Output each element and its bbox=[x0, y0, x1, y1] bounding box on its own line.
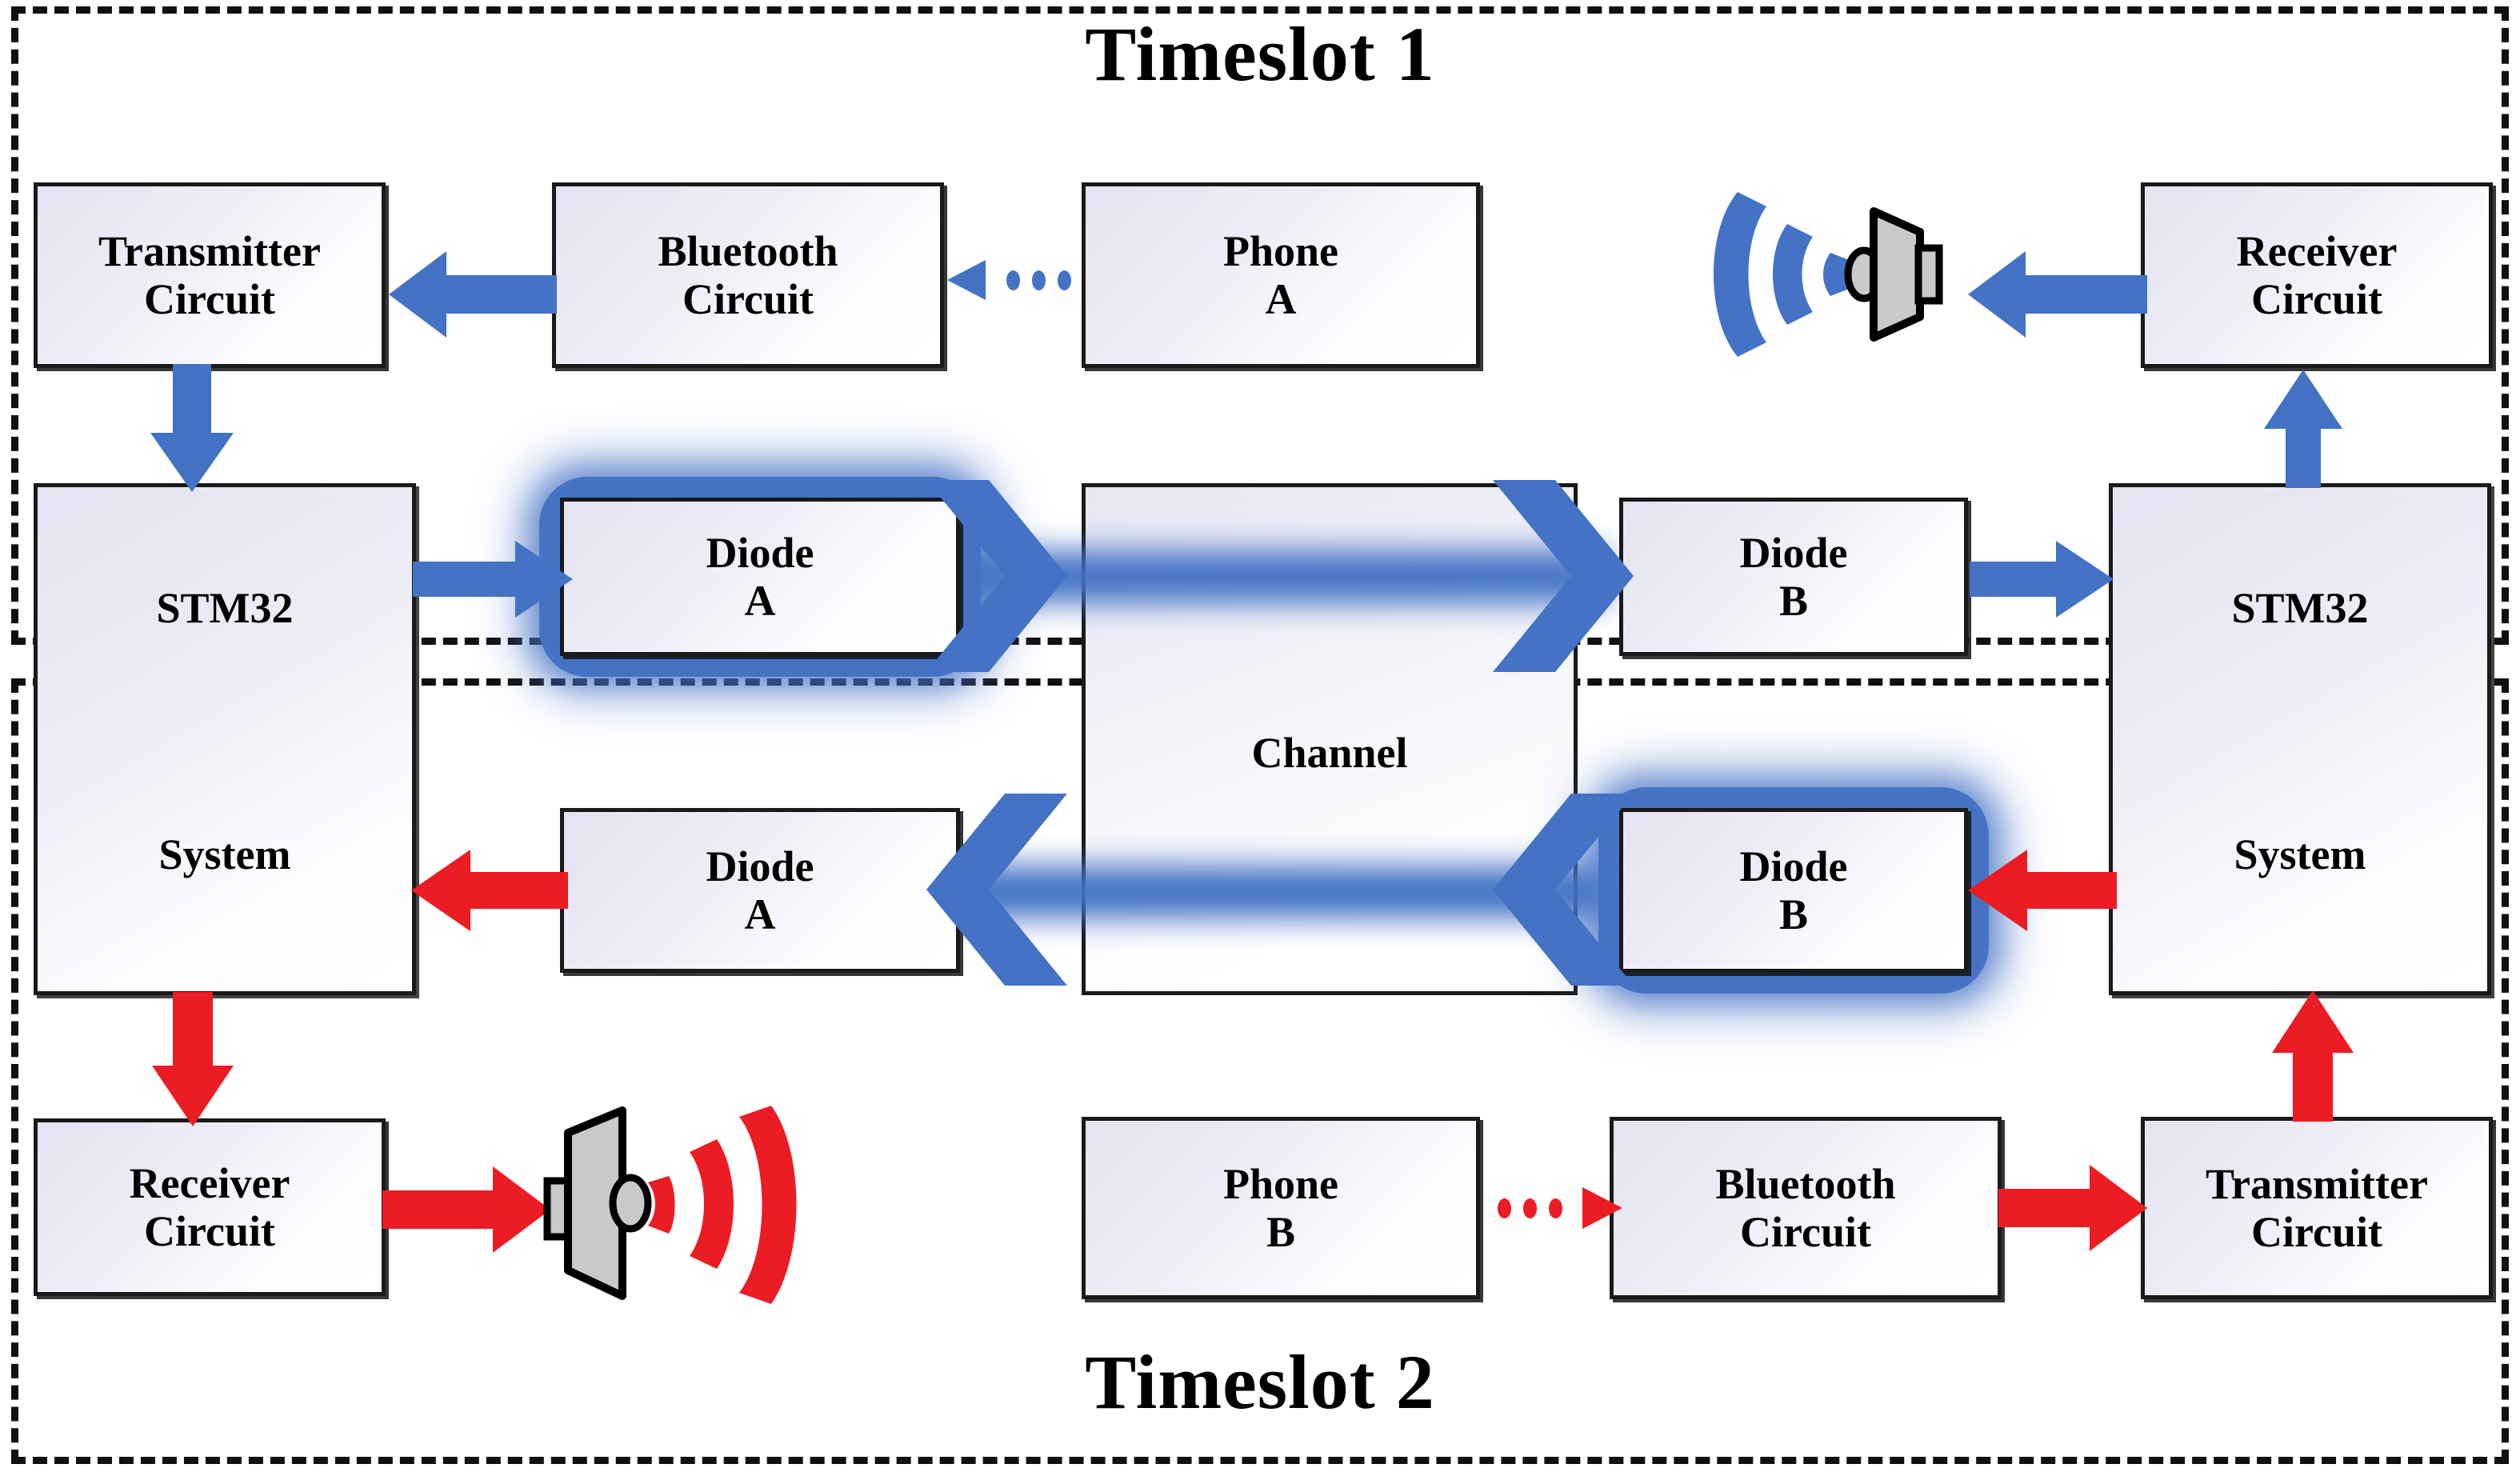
speaker-icon-top bbox=[1704, 182, 1976, 366]
arrow-transmitter-to-stm32 bbox=[144, 364, 240, 492]
transmitter-line-1: Transmitter bbox=[98, 227, 321, 275]
arrow-receiver-to-speaker-bottom bbox=[382, 1162, 550, 1258]
transmitter-bottom-line-2: Circuit bbox=[2251, 1208, 2382, 1256]
diode-b-bottom-line-2: B bbox=[1779, 890, 1808, 938]
mcu-system-box-left: STM32 System bbox=[34, 483, 416, 995]
chevron-right-1 bbox=[926, 480, 1102, 672]
arrow-system-to-receiver bbox=[146, 992, 240, 1126]
arrow-receiver-to-speaker-top bbox=[1968, 246, 2147, 342]
link-dot bbox=[1523, 1198, 1537, 1218]
timeslot-1-title: Timeslot 1 bbox=[840, 16, 1680, 93]
phone-b-line-1: Phone bbox=[1223, 1160, 1338, 1208]
bluetooth-bottom-line-2: Circuit bbox=[1740, 1208, 1871, 1256]
receiver-circuit-box-bottom: Receiver Circuit bbox=[34, 1118, 386, 1296]
link-dot bbox=[1498, 1198, 1511, 1218]
timeslot-2-title: Timeslot 2 bbox=[840, 1344, 1680, 1421]
diode-b-box-bottom: Diode B bbox=[1619, 808, 1968, 973]
receiver-circuit-box-top: Receiver Circuit bbox=[2141, 182, 2493, 368]
arrow-stm32-to-diode-a bbox=[413, 538, 573, 621]
chevron-right-2 bbox=[1493, 480, 1669, 672]
phone-a-box: Phone A bbox=[1082, 182, 1480, 368]
diagram-canvas: Timeslot 1 Timeslot 2 Channel STM32 Syst… bbox=[0, 0, 2520, 1472]
diode-a-bottom-line-2: A bbox=[745, 890, 776, 938]
stm32-label-right: STM32 bbox=[2113, 583, 2487, 633]
transmitter-circuit-box-bottom: Transmitter Circuit bbox=[2141, 1117, 2493, 1299]
receiver-bottom-line-2: Circuit bbox=[144, 1207, 275, 1255]
diode-b-top-line-1: Diode bbox=[1740, 529, 1848, 577]
diode-a-top-line-2: A bbox=[745, 577, 776, 625]
bluetooth-bottom-line-1: Bluetooth bbox=[1715, 1160, 1895, 1208]
bluetooth-line-2: Circuit bbox=[682, 275, 814, 323]
bluetooth-wireless-link-bottom bbox=[1498, 1192, 1642, 1224]
diode-b-bottom-line-1: Diode bbox=[1740, 842, 1848, 890]
diode-a-box-top: Diode A bbox=[560, 498, 960, 656]
arrow-stm32-to-receiver bbox=[2259, 370, 2347, 488]
transmitter-circuit-box-top: Transmitter Circuit bbox=[34, 182, 386, 368]
dotted-arrowhead-left-top bbox=[947, 260, 995, 300]
transmitter-bottom-line-1: Transmitter bbox=[2206, 1160, 2428, 1208]
bluetooth-circuit-box-top: Bluetooth Circuit bbox=[552, 182, 944, 368]
system-label-right: System bbox=[2113, 830, 2487, 879]
arrow-bluetooth-to-transmitter bbox=[389, 246, 557, 342]
chevron-left-2 bbox=[926, 794, 1102, 986]
bluetooth-line-1: Bluetooth bbox=[658, 227, 838, 275]
diode-b-box-top: Diode B bbox=[1619, 498, 1968, 656]
speaker-icon-bottom bbox=[536, 1106, 808, 1306]
system-label-left: System bbox=[38, 830, 412, 879]
diode-a-bottom-line-1: Diode bbox=[706, 842, 814, 890]
link-dot bbox=[1006, 270, 1020, 290]
dotted-arrowhead-right-bottom bbox=[1578, 1187, 1622, 1229]
link-dot bbox=[1032, 270, 1046, 290]
chevron-left-1 bbox=[1493, 794, 1669, 986]
bluetooth-wireless-link-top bbox=[947, 264, 1083, 296]
arrow-diode-a-to-system bbox=[411, 846, 568, 934]
phone-a-line-1: Phone bbox=[1223, 227, 1338, 275]
receiver-top-line-1: Receiver bbox=[2237, 227, 2398, 275]
diode-a-top-line-1: Diode bbox=[706, 529, 814, 577]
link-dot bbox=[1058, 270, 1071, 290]
arrow-diode-b-to-stm32 bbox=[1970, 538, 2114, 621]
arrow-system-to-diode-b bbox=[1968, 846, 2117, 934]
arrow-transmitter-to-system bbox=[2266, 990, 2360, 1122]
diode-b-top-line-2: B bbox=[1779, 577, 1808, 625]
channel-label: Channel bbox=[1082, 728, 1578, 778]
arrow-bluetooth-to-transmitter-bottom bbox=[1998, 1160, 2147, 1256]
phone-a-line-2: A bbox=[1266, 275, 1297, 323]
diode-a-box-bottom: Diode A bbox=[560, 808, 960, 973]
link-dot bbox=[1549, 1198, 1562, 1218]
stm32-label-left: STM32 bbox=[38, 583, 412, 633]
mcu-system-box-right: STM32 System bbox=[2109, 483, 2491, 995]
receiver-bottom-line-1: Receiver bbox=[130, 1159, 290, 1207]
transmitter-line-2: Circuit bbox=[144, 275, 275, 323]
phone-b-line-2: B bbox=[1266, 1208, 1295, 1256]
phone-b-box: Phone B bbox=[1082, 1117, 1480, 1299]
receiver-top-line-2: Circuit bbox=[2251, 275, 2382, 323]
bluetooth-circuit-box-bottom: Bluetooth Circuit bbox=[1610, 1117, 2002, 1299]
